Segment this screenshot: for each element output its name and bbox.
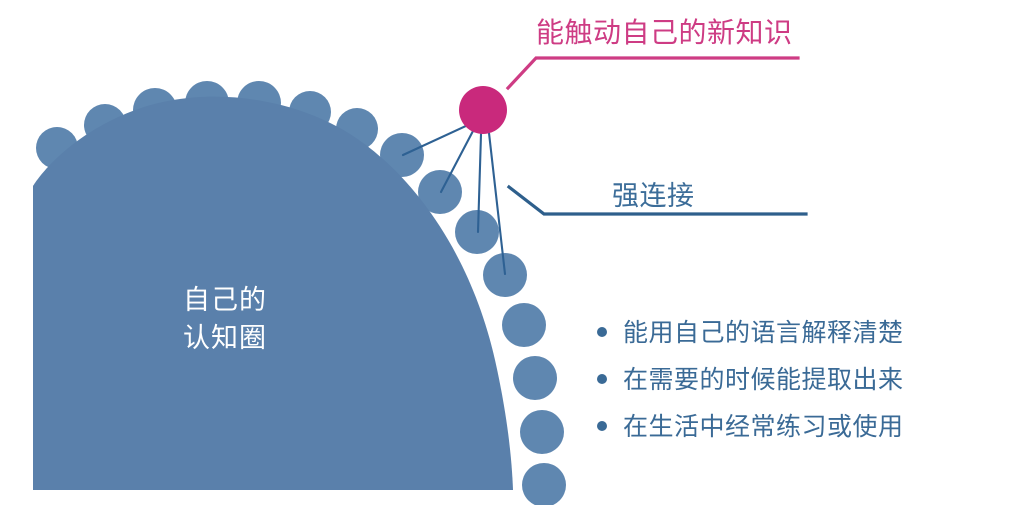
- bullet-item-3: 在生活中经常练习或使用: [623, 412, 904, 443]
- new-knowledge-node[interactable]: [459, 86, 507, 134]
- cognition-circle-label: 自己的 认知圈: [183, 281, 267, 358]
- connection-edge: [489, 133, 505, 274]
- knowledge-node[interactable]: [520, 410, 564, 454]
- cognition-circle-shape: [33, 97, 513, 490]
- knowledge-node[interactable]: [522, 463, 566, 505]
- bullet-item-1: 能用自己的语言解释清楚: [623, 318, 904, 349]
- bullet-dot-icon: [597, 327, 607, 337]
- knowledge-node[interactable]: [513, 356, 557, 400]
- bullet-markers: [597, 327, 607, 431]
- bullet-dot-icon: [597, 421, 607, 431]
- bullet-item-2: 在需要的时候能提取出来: [623, 365, 904, 396]
- knowledge-node[interactable]: [502, 303, 546, 347]
- pink-callout-leader-line: [508, 58, 798, 88]
- new-knowledge-callout-label: 能触动自己的新知识: [536, 16, 793, 50]
- diagram-canvas: 能触动自己的新知识 强连接 自己的 认知圈 能用自己的语言解释清楚 在需要的时候…: [0, 0, 1011, 505]
- bullet-dot-icon: [597, 374, 607, 384]
- strong-connection-label: 强连接: [612, 180, 695, 213]
